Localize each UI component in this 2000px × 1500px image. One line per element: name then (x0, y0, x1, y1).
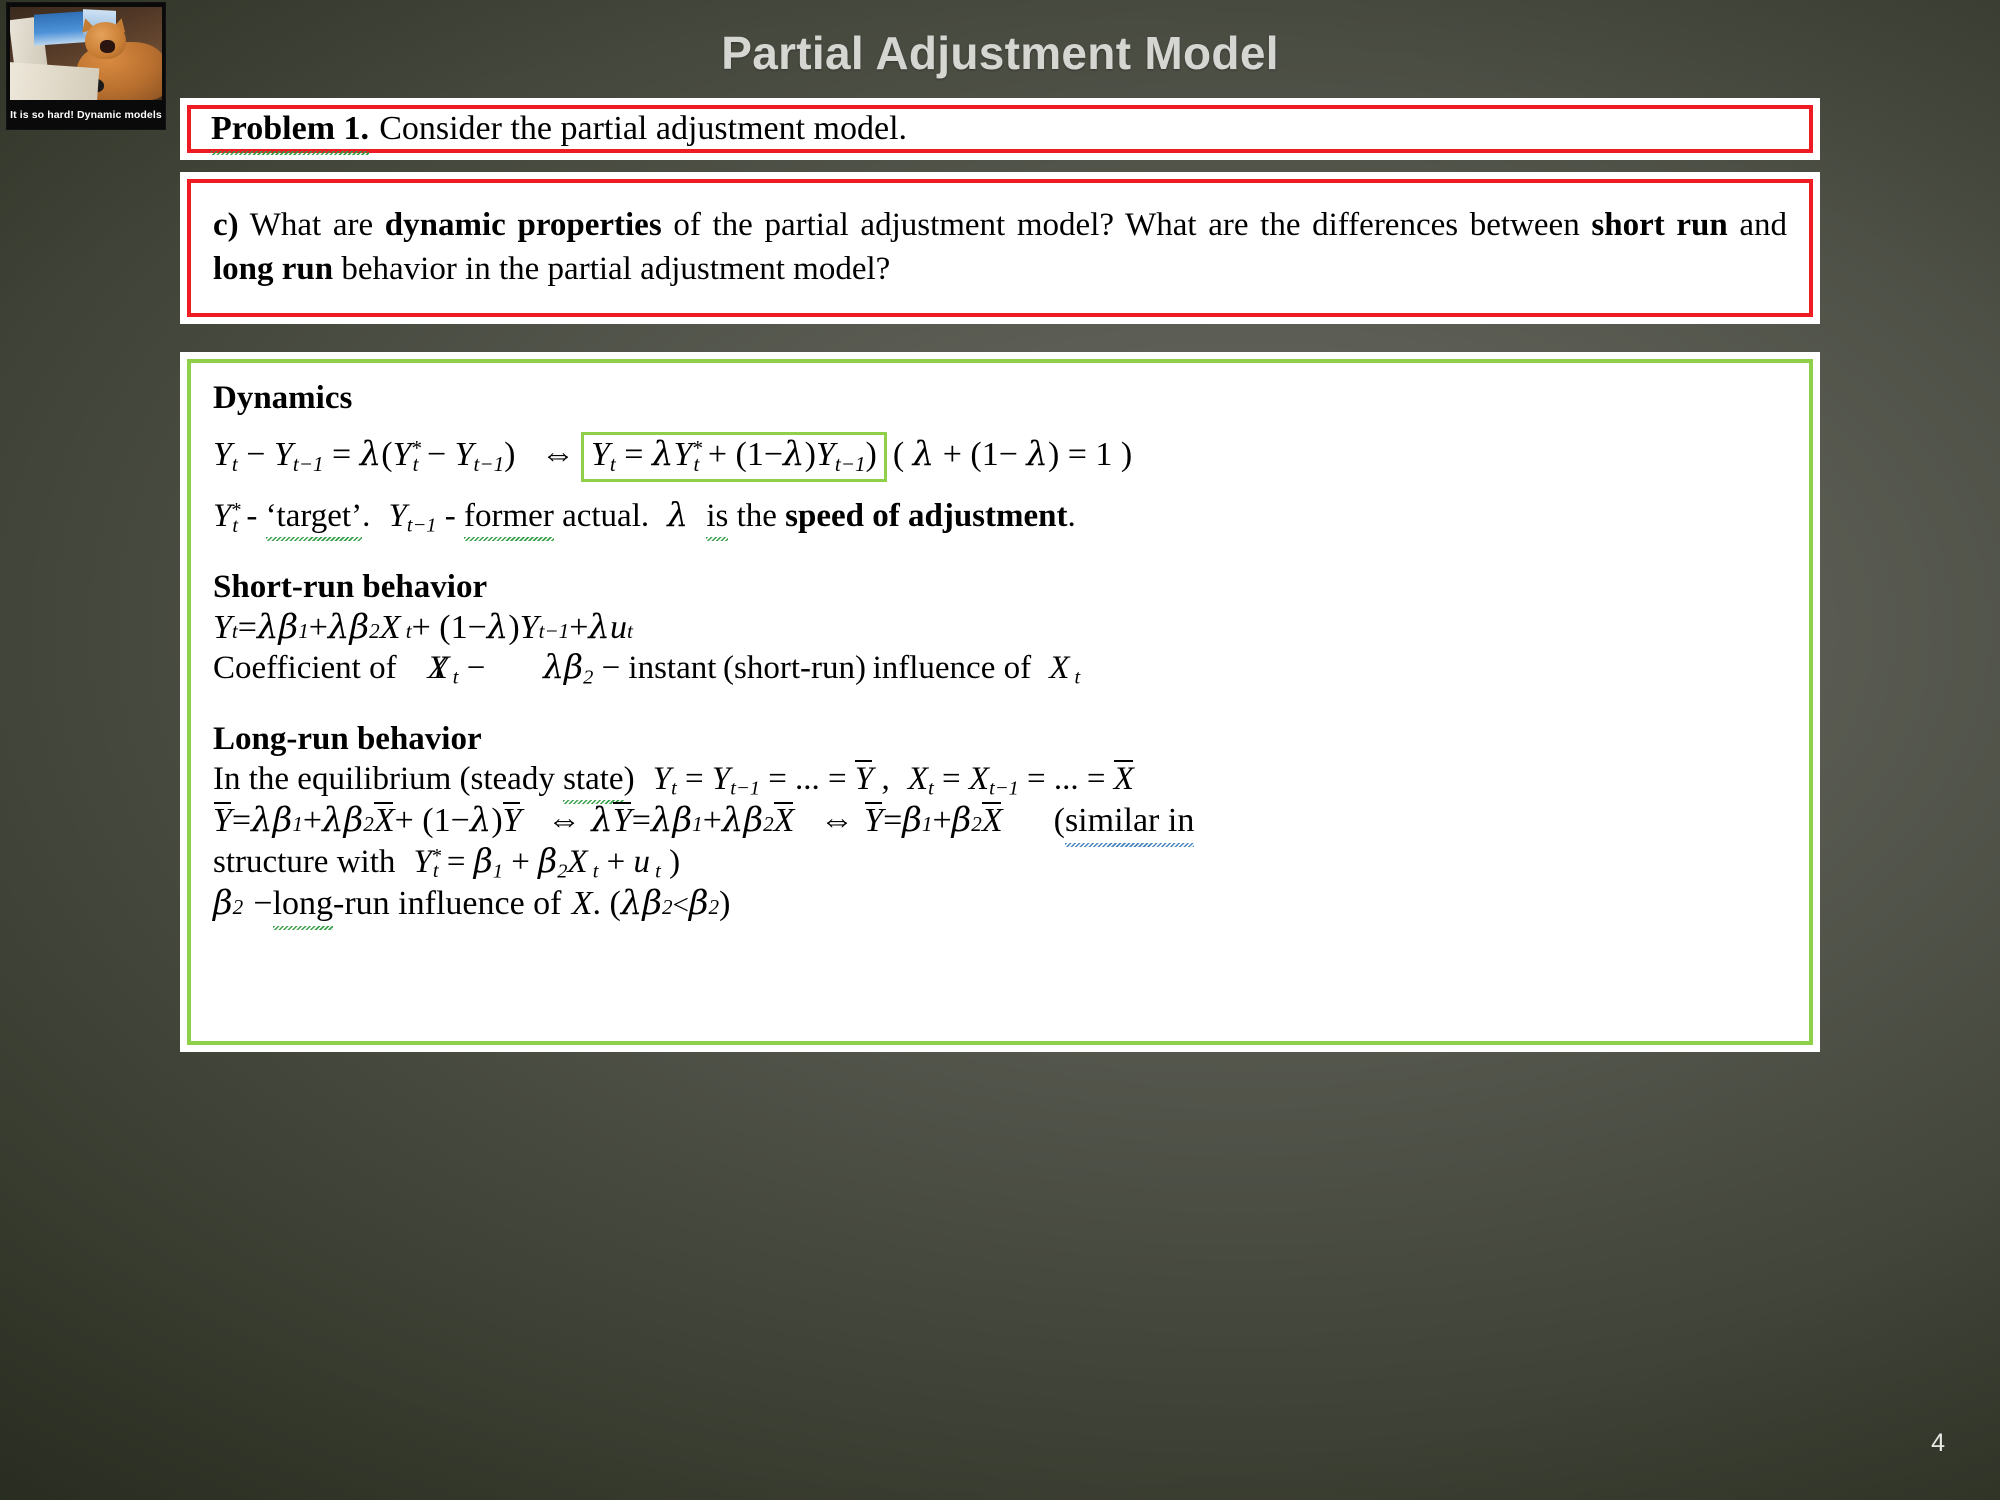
long-run-beta-line: β2 −long-run influence of X . ( λβ2<β2 ) (213, 883, 1787, 924)
question-part-1: What are (250, 207, 373, 243)
dynamics-heading: Dynamics (213, 379, 1787, 418)
problem-statement-box: Problem 1.Consider the partial adjustmen… (180, 98, 1820, 160)
page-number: 4 (1931, 1429, 1945, 1458)
page-title: Partial Adjustment Model (0, 26, 2000, 80)
laptop-screen-shape (34, 11, 86, 45)
slide-canvas: It is so hard! Dynamic models Partial Ad… (0, 0, 2000, 1500)
short-run-heading: Short-run behavior (213, 568, 1787, 607)
cat-photo-image (10, 7, 162, 100)
similar-in-note: (similar in (1054, 801, 1195, 841)
slide-thumbnail: It is so hard! Dynamic models (6, 2, 166, 130)
question-bold-dynamic-properties: dynamic properties (385, 207, 662, 243)
long-run-derivation-line: Y = λβ1 + λβ2X + (1− λ)Y ⇔ λY = λβ1 + λβ… (213, 800, 1787, 841)
long-run-equilibrium-line: In the equilibrium (steady state) Yt = Y… (213, 759, 1787, 801)
iff-symbol-1: ⇔ (541, 435, 575, 475)
speed-of-adjustment-bold: speed of adjustment (785, 498, 1067, 534)
long-run-heading: Long-run behavior (213, 720, 1787, 759)
question-part-2: of the partial adjustment model? What ar… (673, 207, 1579, 243)
problem-text: Consider the partial adjustment model. (379, 110, 907, 147)
cat-mouth-shape (100, 40, 115, 52)
problem-label: Problem 1. (211, 109, 369, 149)
long-run-structure-line: structure with Y*t = β1 + β2X t + u t ) (213, 842, 1787, 884)
dynamics-equation-trailing: ( λ + (1− λ) = 1 ) (893, 434, 1132, 475)
dynamics-note-line: Y*t - ‘target’. Yt−1 - former actual. λ … (213, 496, 1787, 538)
question-bold-long-run: long run (213, 251, 333, 287)
question-part-4: behavior in the partial adjustment model… (341, 251, 890, 287)
content-box: Dynamics Yt − Yt−1 = λ(Y*t − Yt−1) ⇔ Yt … (180, 352, 1820, 1052)
equilibrium-intro: In the equilibrium (steady state) (213, 761, 635, 797)
question-paragraph: c) What are dynamic properties of the pa… (191, 204, 1809, 292)
dynamics-boxed-equation: Yt = λY*t + (1−λ)Yt−1) (581, 432, 887, 482)
thumbnail-caption: It is so hard! Dynamic models (7, 100, 165, 129)
dynamics-equation-lhs: Yt − Yt−1 = λ(Y*t − Yt−1) (213, 434, 516, 477)
question-bold-short-run: short run (1591, 207, 1727, 243)
question-box: c) What are dynamic properties of the pa… (180, 172, 1820, 324)
short-run-equation-line: Yt = λβ1 + λβ2X t + (1−λ)Yt−1 + λut (213, 607, 1787, 648)
question-part-3: and (1739, 207, 1787, 243)
dynamics-equation-line: Yt − Yt−1 = λ(Y*t − Yt−1) ⇔ Yt = λY*t + … (213, 432, 1787, 482)
short-run-coefficient-line: Coefficient of YX t − λβ2 − instant (sho… (213, 648, 1787, 690)
question-marker: c) (213, 207, 239, 243)
paper-bottom-shape (10, 61, 99, 100)
problem-statement-line: Problem 1.Consider the partial adjustmen… (191, 109, 927, 149)
